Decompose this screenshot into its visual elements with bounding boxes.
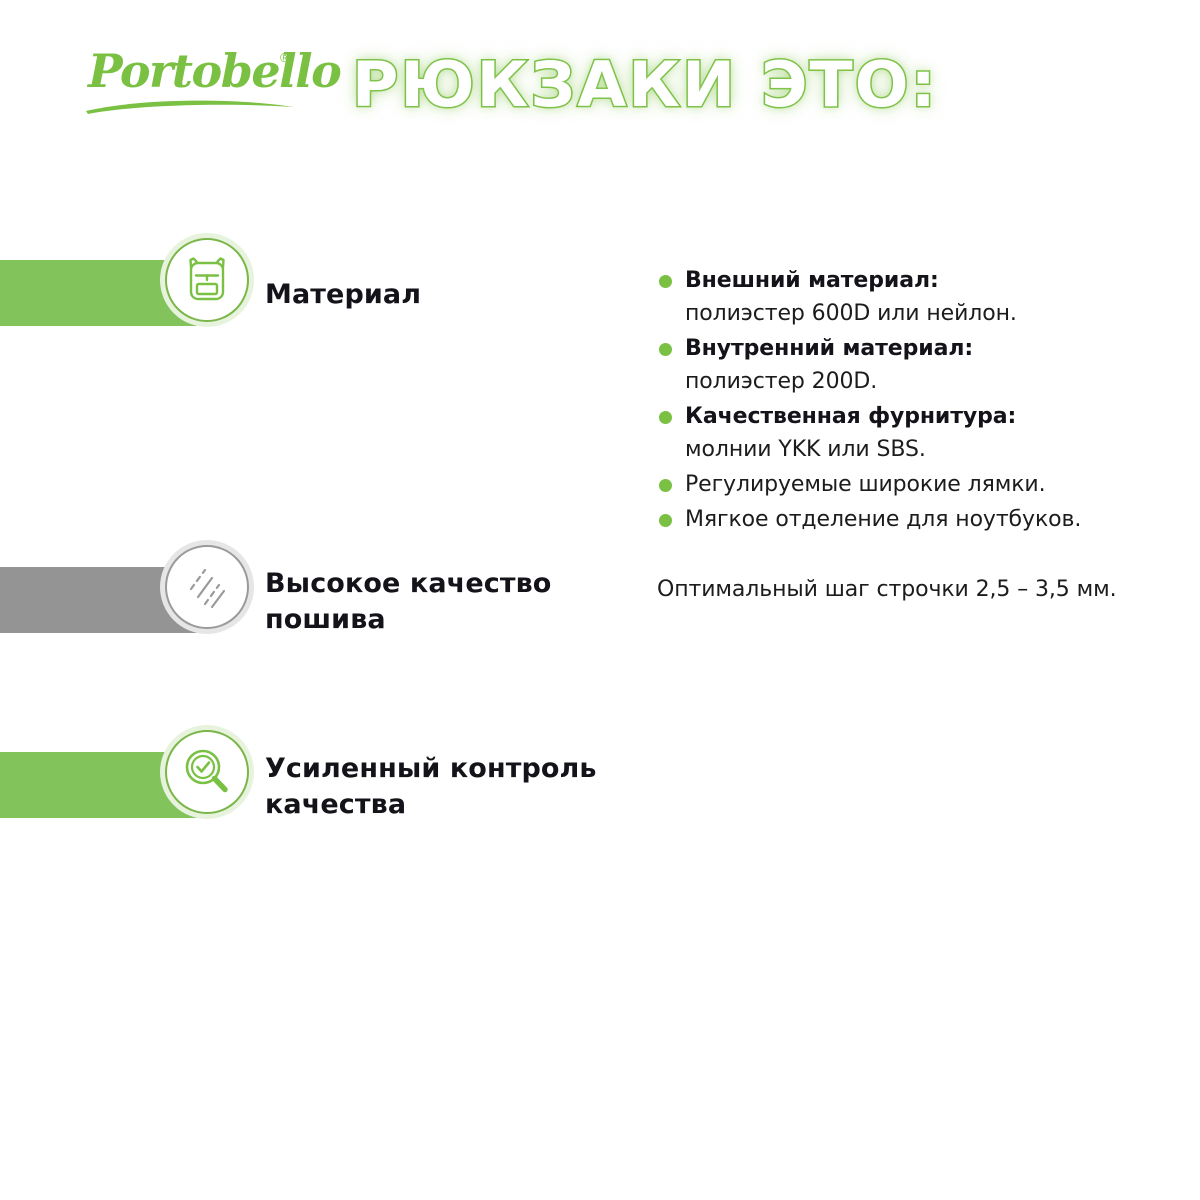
section-heading: Материал: [265, 277, 421, 313]
bullet-dot-icon: [659, 514, 672, 527]
page-title: РЮКЗАКИ ЭТО:: [352, 44, 992, 126]
backpack-icon: [179, 252, 235, 308]
material-bullet-list: Внешний материал: полиэстер 600D или ней…: [655, 264, 1175, 538]
stitching-icon: [179, 559, 235, 615]
bullet-detail: полиэстер 200D.: [685, 365, 1175, 398]
bullet-title: Мягкое отделение для ноутбуков.: [685, 503, 1175, 536]
registered-trademark-symbol: ®: [280, 50, 290, 65]
bullet-dot-icon: [659, 275, 672, 288]
bullet-dot-icon: [659, 479, 672, 492]
bullet-title: Регулируемые широкие лямки.: [685, 468, 1175, 501]
section-badge: [160, 540, 254, 634]
section-heading: Высокое качество пошива: [265, 566, 605, 638]
bullet-dot-icon: [659, 411, 672, 424]
magnifier-check-icon: [179, 744, 235, 800]
bullet-detail: молнии YKK или SBS.: [685, 433, 1175, 466]
list-item: Регулируемые широкие лямки.: [655, 468, 1175, 501]
stitching-note: Оптимальный шаг строчки 2,5 – 3,5 мм.: [657, 574, 1177, 606]
section-heading: Усиленный контроль качества: [265, 751, 605, 823]
page-header: Portobello ® РЮКЗАКИ ЭТО:: [0, 0, 1200, 150]
list-item: Мягкое отделение для ноутбуков.: [655, 503, 1175, 536]
brand-logo-text: Portobello: [88, 48, 340, 94]
bullet-title: Качественная фурнитура:: [685, 400, 1175, 433]
bullet-detail: полиэстер 600D или нейлон.: [685, 297, 1175, 330]
section-badge: [160, 233, 254, 327]
page-title-text: РЮКЗАКИ ЭТО:: [352, 44, 1005, 126]
bullet-title: Внутренний материал:: [685, 332, 1175, 365]
section-quality-control: Усиленный контроль качества: [0, 722, 1200, 852]
list-item: Качественная фурнитура: молнии YKK или S…: [655, 400, 1175, 466]
brand-logo: Portobello ®: [88, 48, 308, 120]
list-item: Внешний материал: полиэстер 600D или ней…: [655, 264, 1175, 330]
logo-swoosh-icon: [86, 98, 294, 114]
section-badge: [160, 725, 254, 819]
list-item: Внутренний материал: полиэстер 200D.: [655, 332, 1175, 398]
bullet-title: Внешний материал:: [685, 264, 1175, 297]
bullet-dot-icon: [659, 343, 672, 356]
